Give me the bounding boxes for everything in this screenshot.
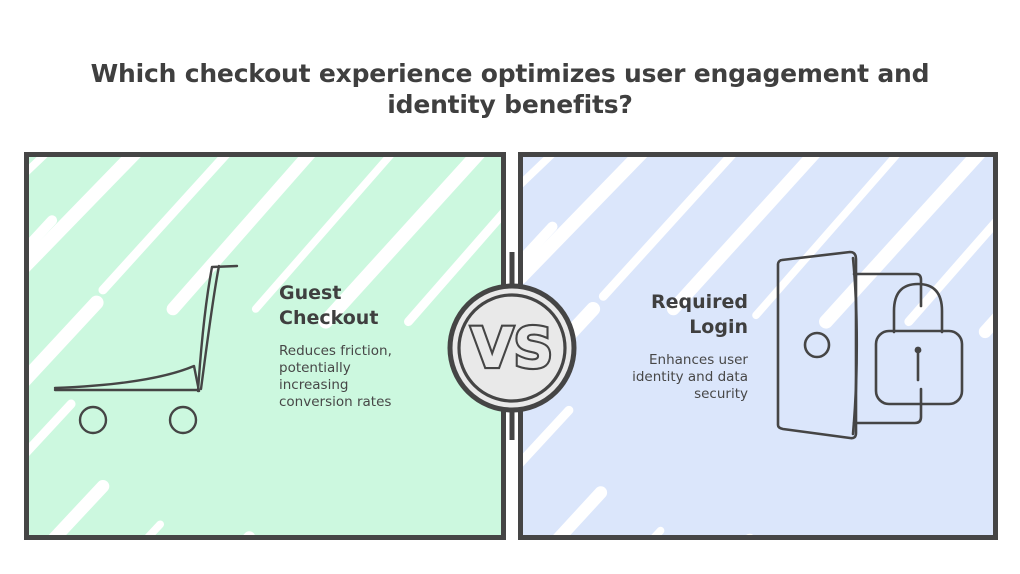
panel-right-heading: Required Login <box>603 290 748 340</box>
page-title: Which checkout experience optimizes user… <box>60 58 960 120</box>
cart-wheel-right <box>170 407 196 433</box>
padlock-icon <box>876 284 962 404</box>
shopping-cart-icon <box>51 254 261 439</box>
door-with-padlock-icon <box>766 249 971 444</box>
panel-right-description: Enhances user identity and data security <box>608 352 748 403</box>
panel-left-copy: Guest Checkout Reduces friction, potenti… <box>279 281 417 411</box>
panel-left-heading: Guest Checkout <box>279 281 384 331</box>
panel-guest-checkout[interactable]: Guest Checkout Reduces friction, potenti… <box>24 152 506 540</box>
panel-left-description: Reduces friction, potentially increasing… <box>279 343 407 411</box>
cart-wheel-left <box>80 407 106 433</box>
panel-right-content: Required Login Enhances user identity an… <box>523 157 993 535</box>
panel-right-copy: Required Login Enhances user identity an… <box>603 290 748 403</box>
panel-left-content: Guest Checkout Reduces friction, potenti… <box>29 157 501 535</box>
panel-required-login[interactable]: Required Login Enhances user identity an… <box>518 152 998 540</box>
